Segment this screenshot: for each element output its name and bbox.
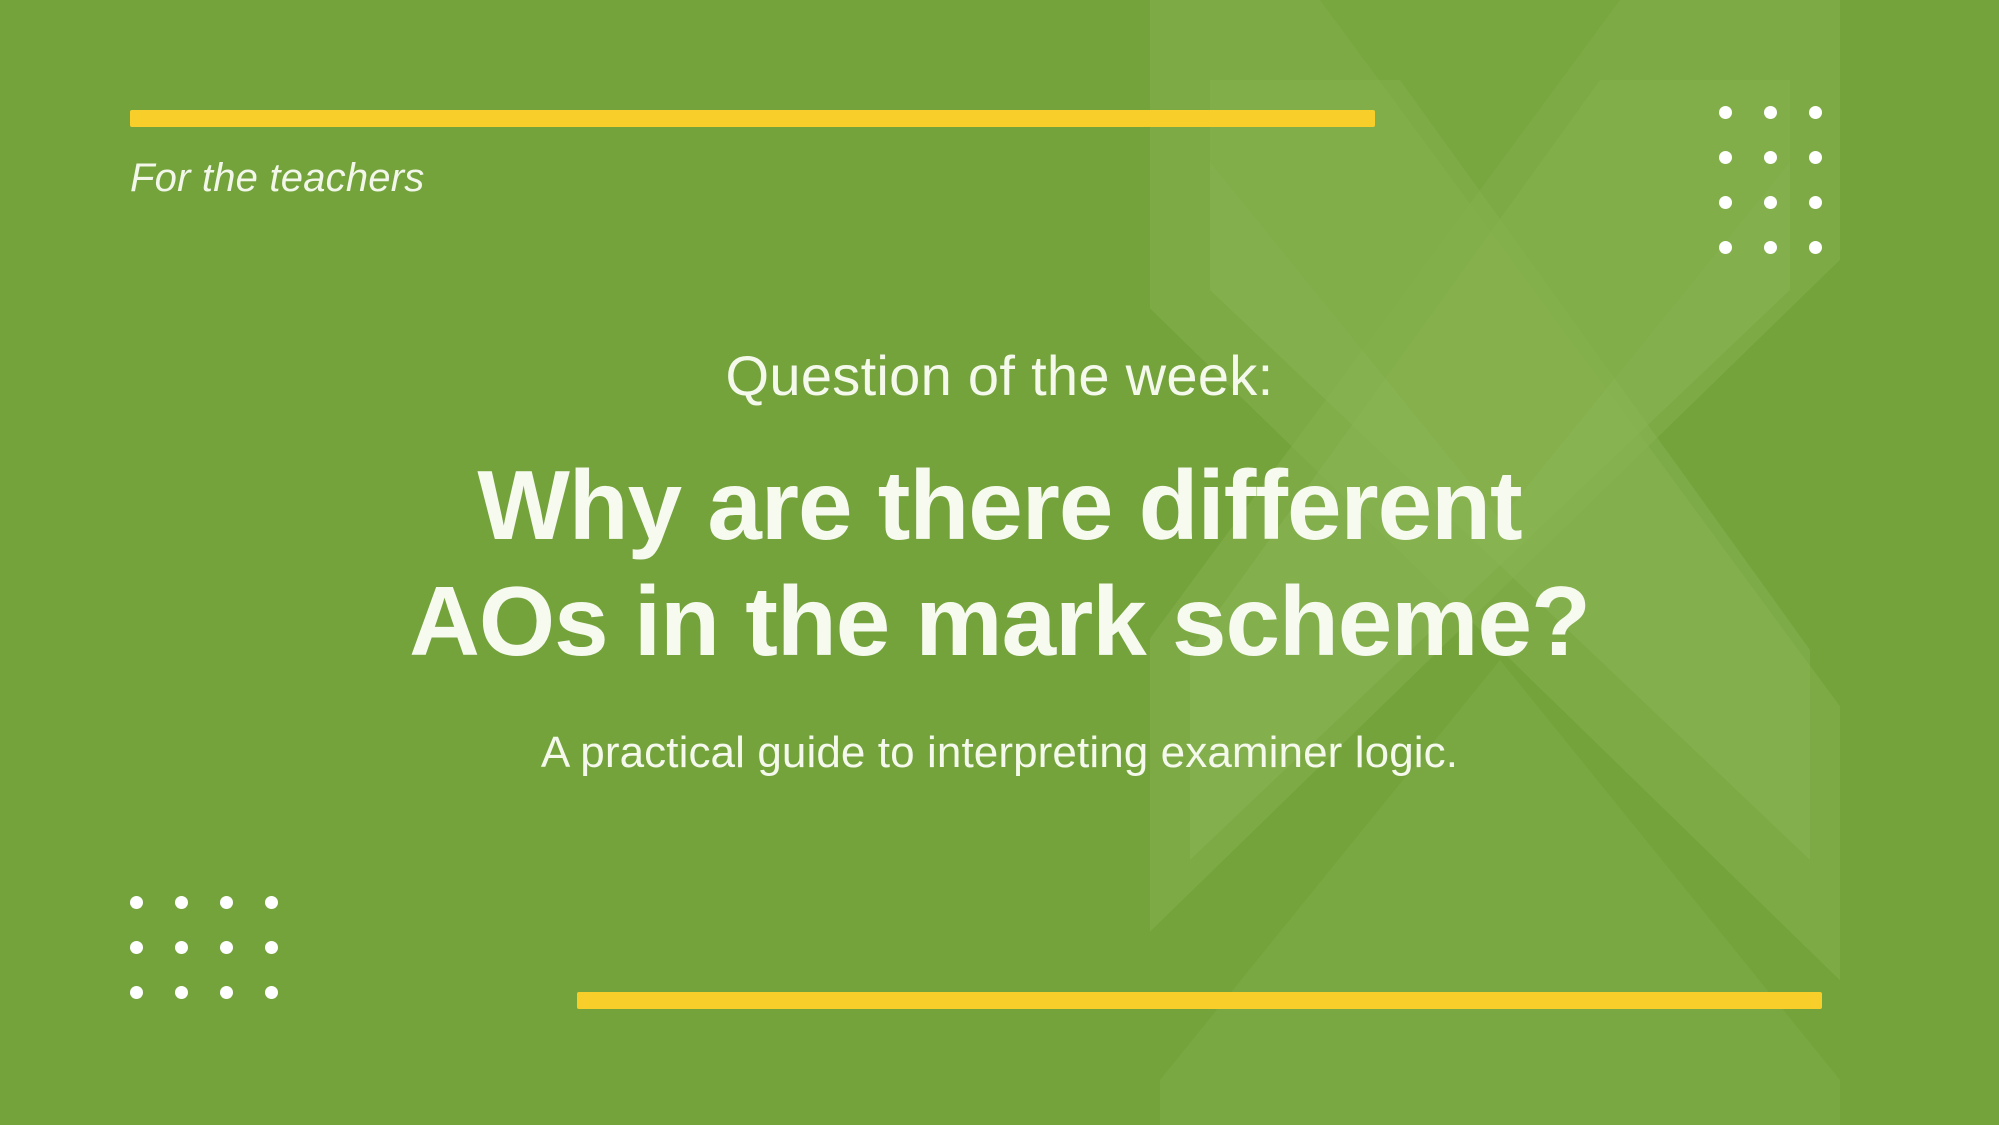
headline-line-1: Why are there different xyxy=(409,448,1590,564)
headline: Why are there different AOs in the mark … xyxy=(409,448,1590,679)
subheadline: A practical guide to interpreting examin… xyxy=(541,725,1458,780)
slide-canvas: For the teachers Question of the week: xyxy=(0,0,1999,1125)
headline-line-2: AOs in the mark scheme? xyxy=(409,564,1590,680)
yellow-rule-bottom xyxy=(577,992,1822,1009)
slide-content: Question of the week: Why are there diff… xyxy=(0,0,1999,1125)
kicker-text: Question of the week: xyxy=(726,345,1274,407)
